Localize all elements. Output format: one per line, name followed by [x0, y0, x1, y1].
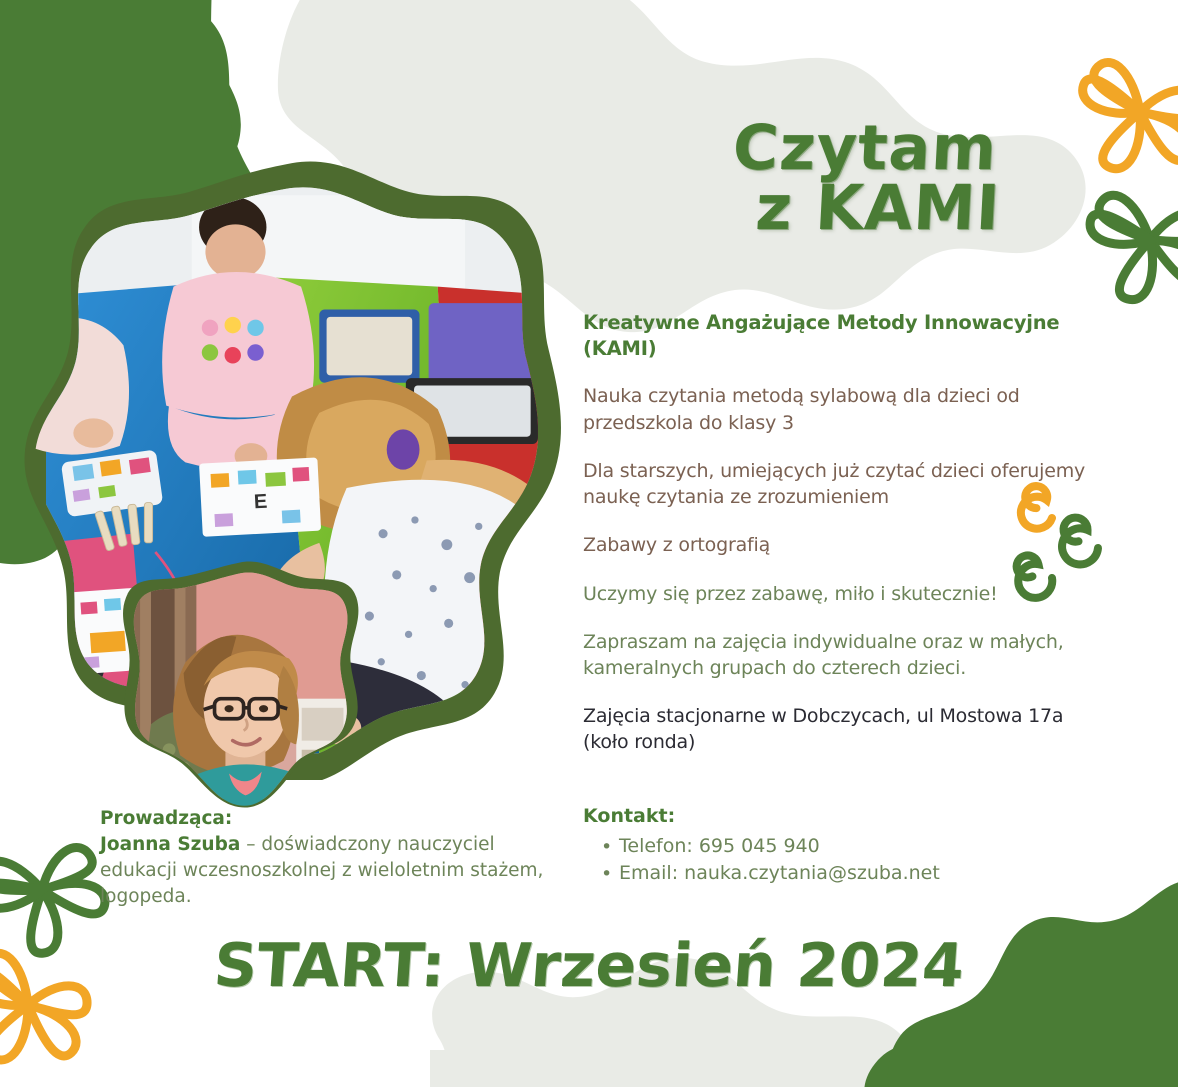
contact-email[interactable]: • Email: nauka.czytania@szuba.net: [601, 860, 1043, 887]
title-line-2: z KAMI: [698, 178, 1031, 238]
title-line-1: Czytam: [698, 118, 1031, 178]
svg-text:E: E: [253, 491, 268, 514]
paragraph-older-children: Dla starszych, umiejących już czytać dzi…: [583, 458, 1093, 510]
bullet-icon: •: [601, 861, 612, 888]
teacher-portrait-photo: [120, 560, 360, 810]
contact-phone[interactable]: • Telefon: 695 045 940: [601, 833, 1043, 860]
start-banner: START: Wrzesień 2024: [0, 936, 1178, 996]
leader-name: Joanna Szuba: [100, 834, 240, 855]
contact-phone-label: Telefon: 695 045 940: [619, 835, 820, 857]
leader-heading: Prowadząca:: [100, 806, 570, 832]
kami-heading: Kreatywne Angażujące Metody Innowacyjne …: [583, 310, 1093, 361]
flower-icon-top-right-orange: [1062, 57, 1178, 190]
contact-section: Kontakt: • Telefon: 695 045 940 • Email:…: [583, 805, 1043, 887]
paragraph-location: Zajęcia stacjonarne w Dobczycach, ul Mos…: [583, 703, 1093, 755]
paragraph-group-invitation: Zapraszam na zajęcia indywidualne oraz w…: [583, 629, 1093, 681]
description-column: Kreatywne Angażujące Metody Innowacyjne …: [583, 310, 1093, 776]
contact-heading: Kontakt:: [583, 805, 1043, 827]
paragraph-spelling-games: Zabawy z ortografią: [583, 532, 1093, 558]
bullet-icon: •: [601, 834, 612, 861]
paragraph-learning-through-play: Uczymy się przez zabawę, miło i skuteczn…: [583, 581, 1093, 607]
leader-section: Prowadząca: Joanna Szuba – doświadczony …: [100, 806, 570, 910]
contact-list: • Telefon: 695 045 940 • Email: nauka.cz…: [583, 833, 1043, 887]
flower-icon-top-right-green: [1078, 192, 1178, 312]
start-banner-text: START: Wrzesień 2024: [212, 936, 966, 996]
paragraph-method: Nauka czytania metodą sylabową dla dziec…: [583, 383, 1093, 435]
poster-root: E S: [0, 0, 1178, 1087]
page-title: Czytam z KAMI: [700, 118, 1030, 237]
contact-email-label: Email: nauka.czytania@szuba.net: [619, 862, 940, 884]
